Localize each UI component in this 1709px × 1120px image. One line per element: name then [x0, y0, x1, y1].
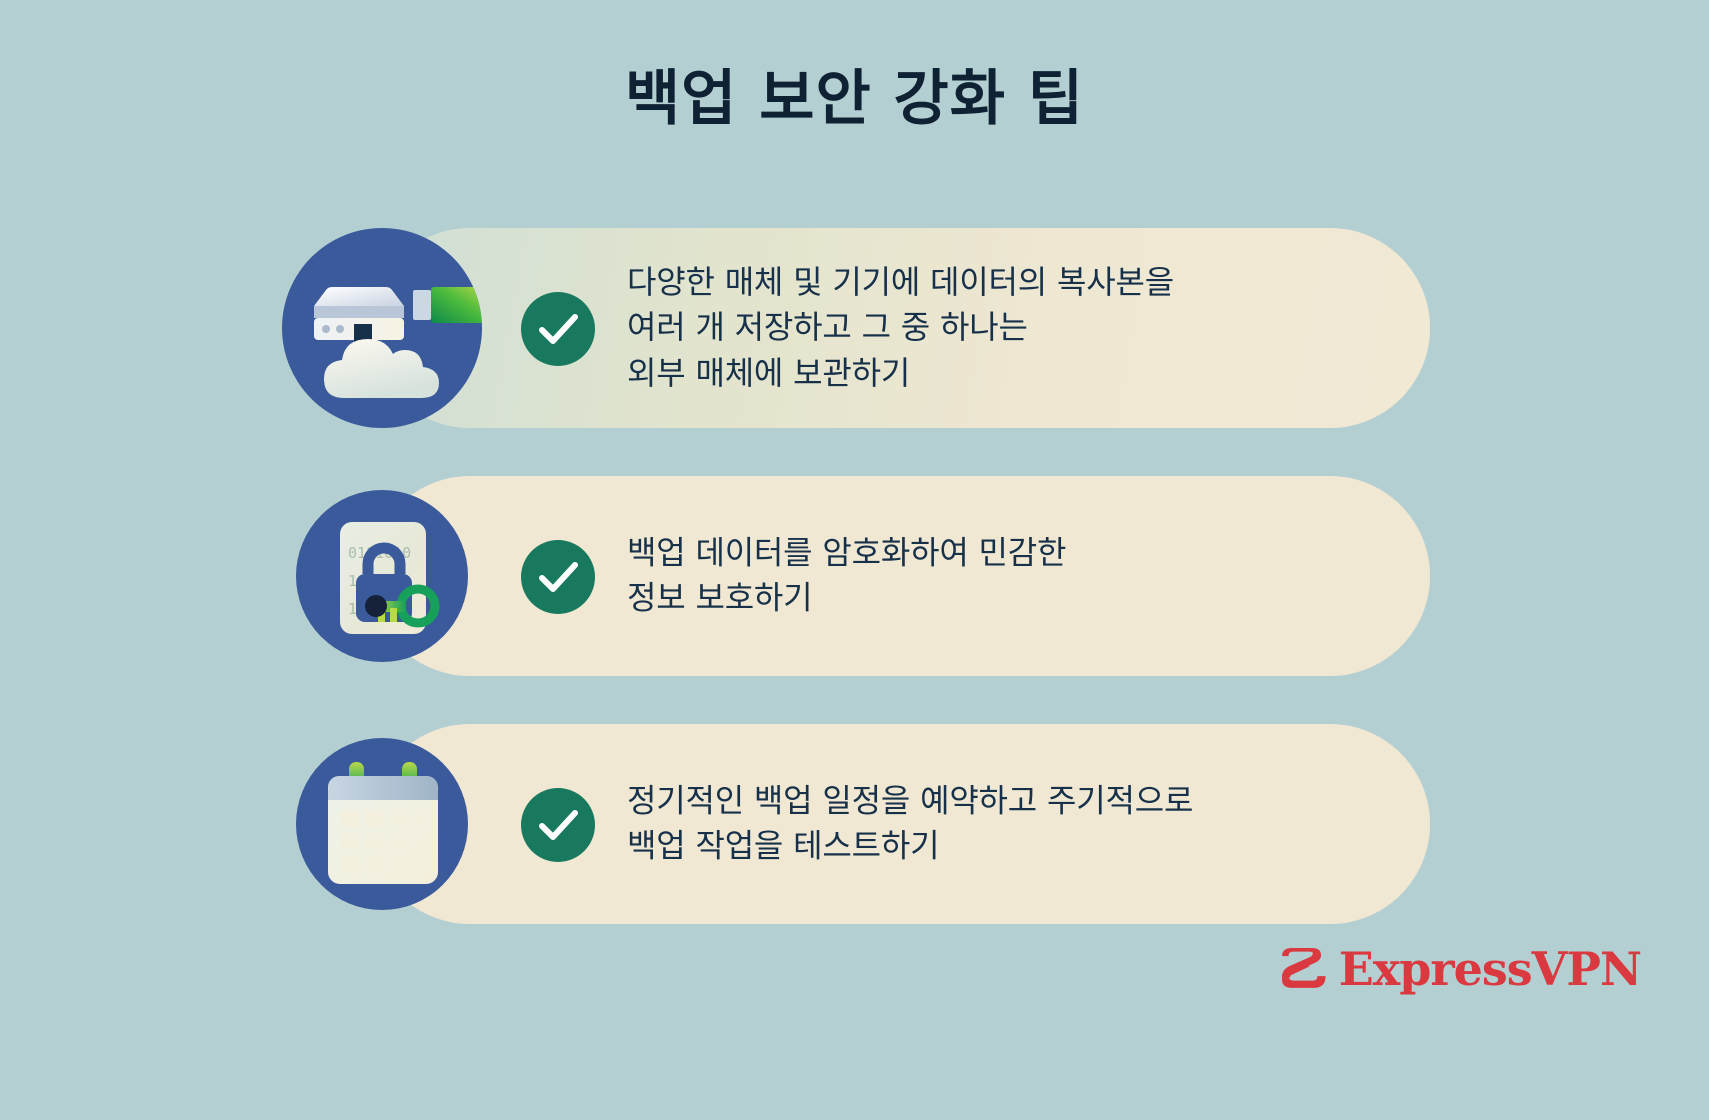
- expressvpn-e-mark-icon: [1273, 938, 1331, 1000]
- tip-text: 정기적인 백업 일정을 예약하고 주기적으로 백업 작업을 테스트하기: [627, 779, 1193, 870]
- calendar-schedule-icon: [296, 738, 468, 910]
- encrypted-lock-key-icon: 0101010 1010101 1010101: [296, 490, 468, 662]
- tip-row: 다양한 매체 및 기기에 데이터의 복사본을 여러 개 저장하고 그 중 하나는…: [282, 228, 1430, 428]
- expressvpn-logo: ExpressVPN: [1273, 938, 1641, 1000]
- check-icon: [521, 788, 595, 862]
- tip-row: 정기적인 백업 일정을 예약하고 주기적으로 백업 작업을 테스트하기: [282, 724, 1430, 924]
- tip-text: 백업 데이터를 암호화하여 민감한 정보 보호하기: [627, 531, 1066, 622]
- tips-list: 다양한 매체 및 기기에 데이터의 복사본을 여러 개 저장하고 그 중 하나는…: [282, 228, 1430, 972]
- expressvpn-wordmark: ExpressVPN: [1339, 946, 1641, 992]
- cloud-storage-backup-icon: [282, 228, 482, 428]
- page-title: 백업 보안 강화 팁: [0, 62, 1709, 137]
- check-icon: [521, 292, 595, 366]
- tip-row: 0101010 1010101 1010101 백업 데이터를 암호화하여 민: [282, 476, 1430, 676]
- check-icon: [521, 540, 595, 614]
- tip-text: 다양한 매체 및 기기에 데이터의 복사본을 여러 개 저장하고 그 중 하나는…: [627, 260, 1174, 396]
